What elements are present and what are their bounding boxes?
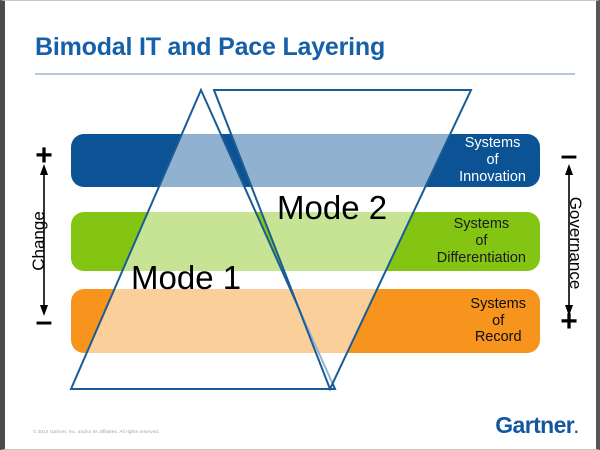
copyright-notice: © 2014 Gartner, Inc. and/or its affiliat… [33,429,159,434]
gartner-logo-text: Gartner [495,412,574,438]
mode1-label: Mode 1 [131,259,241,297]
governance-axis-label: Governance [565,194,585,292]
mode2-label: Mode 2 [277,189,387,227]
change-axis-plus-sign: + [31,141,57,171]
gartner-logo-dot: . [574,420,578,437]
gartner-logo: Gartner. [495,412,578,439]
diagram-stage: Systems of Innovation Systems of Differe… [5,1,600,450]
governance-axis-minus-sign: – [556,141,582,171]
change-axis-minus-sign: – [31,307,57,337]
change-axis-label: Change [29,203,49,279]
governance-axis-plus-sign: + [556,307,582,337]
slide-canvas: Bimodal IT and Pace Layering Systems of … [0,0,600,450]
